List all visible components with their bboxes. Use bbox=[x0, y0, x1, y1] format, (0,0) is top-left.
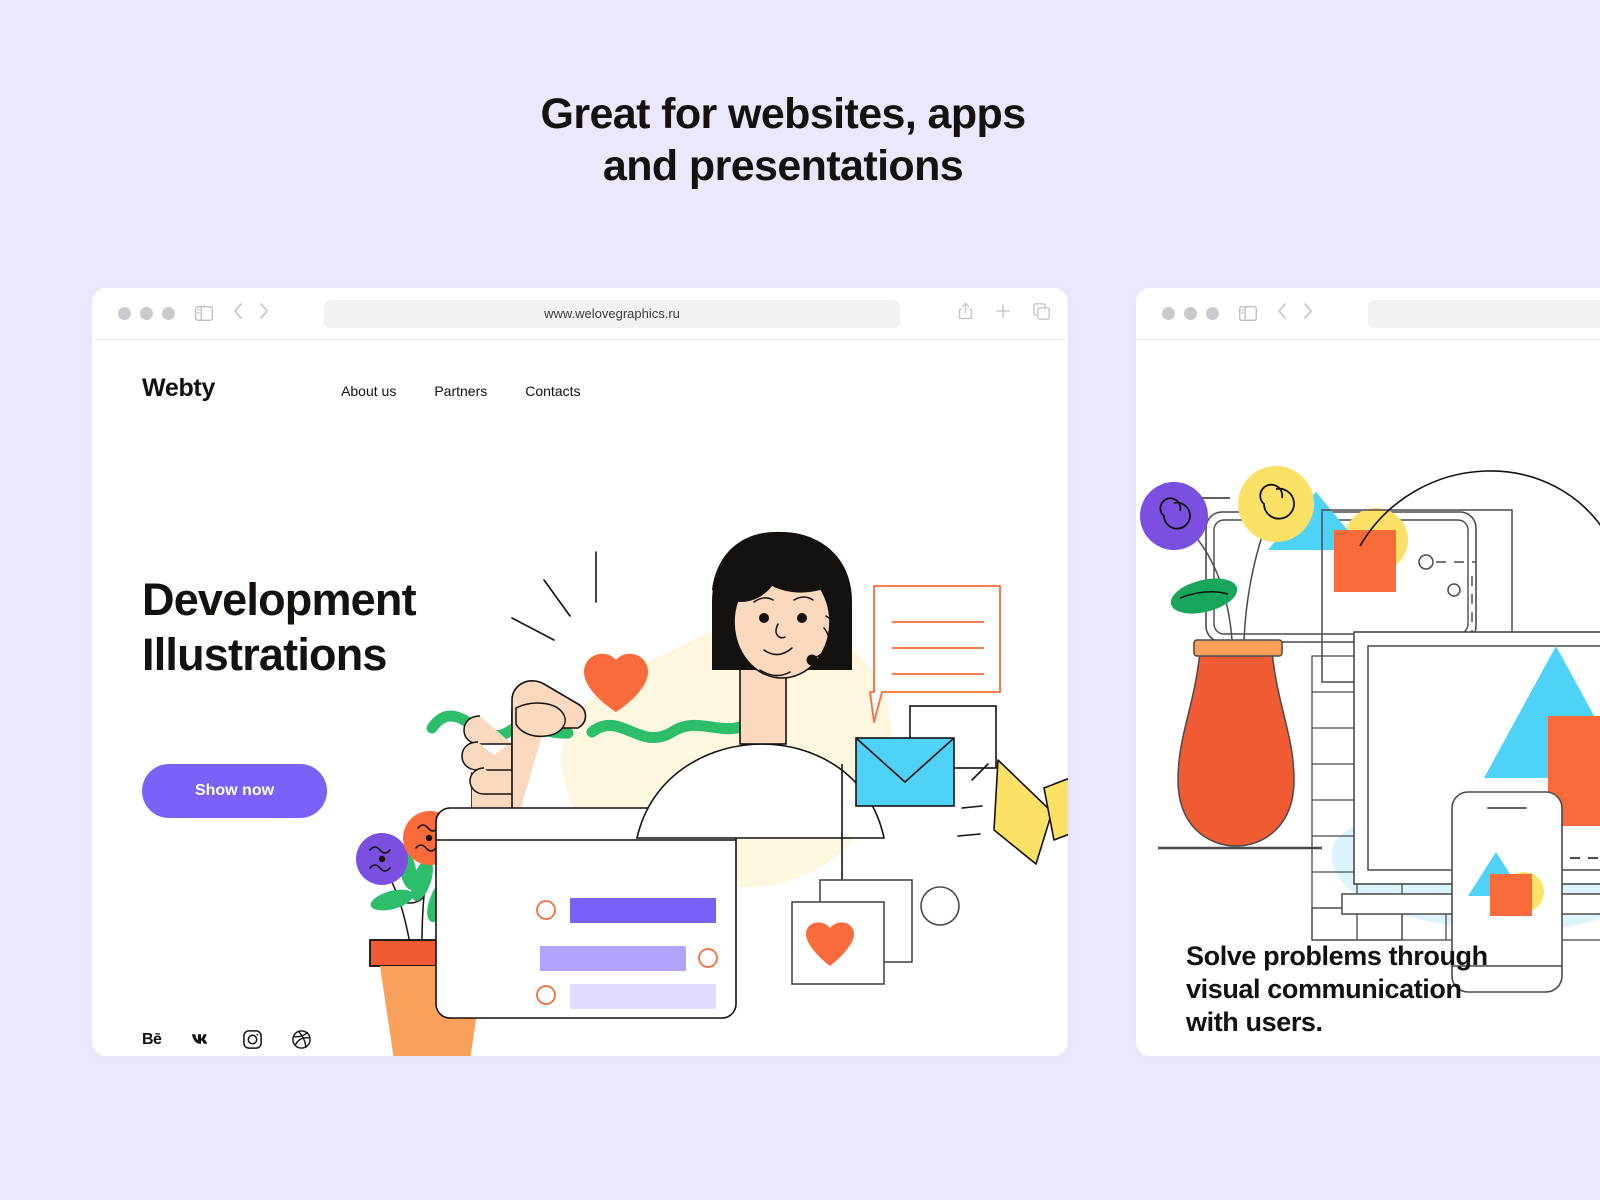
url-bar-right[interactable]: ww bbox=[1368, 300, 1600, 328]
heart-cards bbox=[792, 764, 959, 984]
traffic-lights[interactable] bbox=[118, 307, 175, 320]
site-logo[interactable]: Webty bbox=[142, 374, 215, 403]
traffic-lights-right[interactable] bbox=[1162, 307, 1219, 320]
website-viewport-right: Solve problems through visual communicat… bbox=[1136, 340, 1600, 1056]
caption-line-1: Solve problems through bbox=[1186, 940, 1600, 973]
new-tab-icon[interactable] bbox=[995, 303, 1011, 324]
browser-toolbar-right: ww bbox=[1136, 288, 1600, 340]
plant-illustration bbox=[356, 811, 504, 1056]
mockup-dot-cyan bbox=[705, 817, 719, 831]
hero-title-line-1: Development bbox=[142, 572, 416, 627]
sidebar-icon-right[interactable] bbox=[1239, 306, 1257, 321]
hero-title-line-2: Illustrations bbox=[142, 627, 416, 682]
nav-arrows-right bbox=[1277, 303, 1313, 324]
headline-line-2: and presentations bbox=[0, 140, 1566, 192]
forward-arrow-icon-right[interactable] bbox=[1303, 303, 1313, 324]
sparkle-lines bbox=[512, 552, 596, 640]
right-browser-window: ww bbox=[1136, 288, 1600, 1056]
page-root: Great for websites, apps and presentatio… bbox=[0, 0, 1600, 1200]
social-links: Bē bbox=[142, 1030, 311, 1049]
nav-arrows bbox=[233, 303, 269, 324]
speech-bubble bbox=[870, 586, 1000, 722]
headline-line-1: Great for websites, apps bbox=[540, 90, 1025, 138]
flower-violet bbox=[356, 833, 408, 885]
caption-line-3: with users. bbox=[1186, 1006, 1600, 1039]
hand-illustration bbox=[462, 681, 586, 840]
wireframe-grid bbox=[1312, 656, 1600, 940]
headset-mic bbox=[807, 655, 818, 666]
hero-illustration bbox=[92, 340, 1068, 1056]
back-arrow-icon[interactable] bbox=[233, 303, 243, 324]
mockup-bar-2 bbox=[540, 946, 686, 971]
nav-item-about-us[interactable]: About us bbox=[341, 383, 396, 399]
green-wave-left bbox=[432, 716, 568, 736]
megaphone bbox=[958, 760, 1068, 864]
mockup-browser bbox=[436, 808, 736, 1018]
caption-line-2: visual communication bbox=[1186, 973, 1600, 1006]
mockup-bar-1 bbox=[570, 898, 716, 923]
url-bar[interactable]: www.welovegraphics.ru bbox=[324, 300, 900, 328]
nav-item-contacts[interactable]: Contacts bbox=[525, 383, 580, 399]
envelope bbox=[856, 706, 996, 806]
dribbble-icon[interactable] bbox=[292, 1030, 311, 1049]
circle-yellow bbox=[1576, 712, 1600, 816]
show-now-button[interactable]: Show now bbox=[142, 764, 327, 818]
share-icon[interactable] bbox=[958, 302, 973, 325]
tabs-icon[interactable] bbox=[1033, 303, 1050, 325]
vase-illustration bbox=[1140, 466, 1322, 848]
mockup-radio-1 bbox=[537, 901, 555, 919]
site-nav: About us Partners Contacts bbox=[341, 383, 580, 399]
triangle-cyan bbox=[1484, 646, 1600, 778]
pot-body bbox=[380, 966, 484, 1056]
nav-item-partners[interactable]: Partners bbox=[434, 383, 487, 399]
square-orange bbox=[1548, 716, 1600, 826]
website-viewport: Webty About us Partners Contacts Develop… bbox=[92, 340, 1068, 1056]
flower-yellow-right bbox=[1238, 466, 1314, 542]
browser-toolbar: www.welovegraphics.ru bbox=[92, 288, 1068, 340]
mockup-dot-orange bbox=[681, 817, 695, 831]
hero-title: Development Illustrations bbox=[142, 572, 416, 682]
outline-circle bbox=[921, 887, 959, 925]
forward-arrow-icon[interactable] bbox=[259, 303, 269, 324]
flower-cyan bbox=[449, 848, 501, 900]
right-caption: Solve problems through visual communicat… bbox=[1186, 940, 1600, 1039]
toolbar-actions bbox=[958, 302, 1050, 325]
mockup-radio-3 bbox=[537, 986, 555, 1004]
heart-red bbox=[584, 654, 648, 712]
instagram-icon[interactable] bbox=[243, 1030, 262, 1049]
back-arrow-icon-right[interactable] bbox=[1277, 303, 1287, 324]
behance-icon[interactable]: Bē bbox=[142, 1031, 161, 1049]
page-title: Great for websites, apps and presentatio… bbox=[0, 88, 1566, 192]
flower-violet-right bbox=[1140, 482, 1208, 550]
pot-rim bbox=[370, 940, 494, 966]
blob-cream bbox=[562, 620, 892, 887]
vk-icon[interactable] bbox=[191, 1033, 213, 1047]
mockup-bar-3 bbox=[570, 984, 716, 1009]
sidebar-icon[interactable] bbox=[195, 306, 213, 321]
mockup-radio-2 bbox=[699, 949, 717, 967]
mockup-dot-yellow bbox=[657, 817, 671, 831]
url-text: www.welovegraphics.ru bbox=[544, 306, 680, 321]
woman-illustration bbox=[637, 532, 884, 838]
flower-orange bbox=[403, 811, 457, 865]
site-header: Webty About us Partners Contacts bbox=[142, 374, 742, 403]
hair bbox=[712, 532, 852, 670]
green-wave-right bbox=[592, 722, 752, 738]
left-browser-window: www.welovegraphics.ru bbox=[92, 288, 1068, 1056]
